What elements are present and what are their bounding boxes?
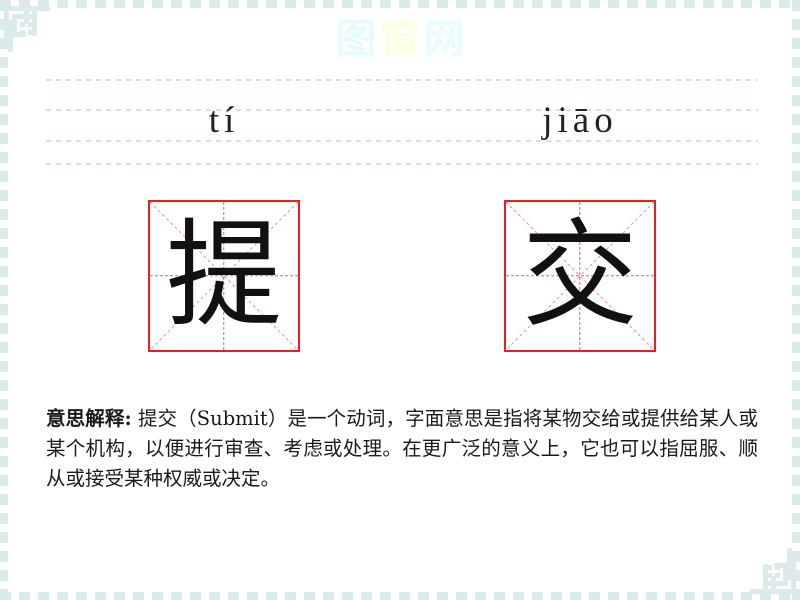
frame-border-top: [0, 0, 800, 8]
hanzi-character-2: 交: [506, 202, 654, 350]
pinyin-row: tí jiāo: [46, 78, 758, 168]
character-cell-2: 交: [402, 200, 758, 360]
corner-ornament-top-left-icon: [2, 2, 62, 62]
pinyin-text-1: tí: [209, 102, 240, 139]
meaning-explanation: 意思解释: 提交（Submit）是一个动词，字面意思是指将某物交给或提供给某人或…: [46, 404, 758, 494]
site-watermark-logo: 图 窗 网: [334, 14, 466, 64]
meaning-label: 意思解释:: [46, 407, 132, 430]
meaning-body: 提交（Submit）是一个动词，字面意思是指将某物交给或提供给某人或某个机构，以…: [46, 407, 758, 490]
frame-border-right: [792, 0, 800, 600]
character-row: 提 交: [46, 200, 758, 360]
character-grid-box-2: 交: [504, 200, 656, 352]
hanzi-character-1: 提: [150, 202, 298, 350]
watermark-char-1: 图: [336, 19, 377, 60]
worksheet-page: 图 窗 网 tí jiāo 提: [0, 0, 800, 600]
pinyin-text-2: jiāo: [542, 102, 617, 139]
frame-border-left: [0, 0, 8, 600]
corner-ornament-bottom-right-icon: [738, 538, 798, 598]
watermark-char-3: 网: [424, 19, 465, 60]
character-cell-1: 提: [46, 200, 402, 360]
character-grid-box-1: 提: [148, 200, 300, 352]
pinyin-cell-1: tí: [46, 78, 402, 168]
watermark-char-2: 窗: [380, 19, 421, 60]
frame-border-bottom: [0, 592, 800, 600]
pinyin-cell-2: jiāo: [402, 78, 758, 168]
